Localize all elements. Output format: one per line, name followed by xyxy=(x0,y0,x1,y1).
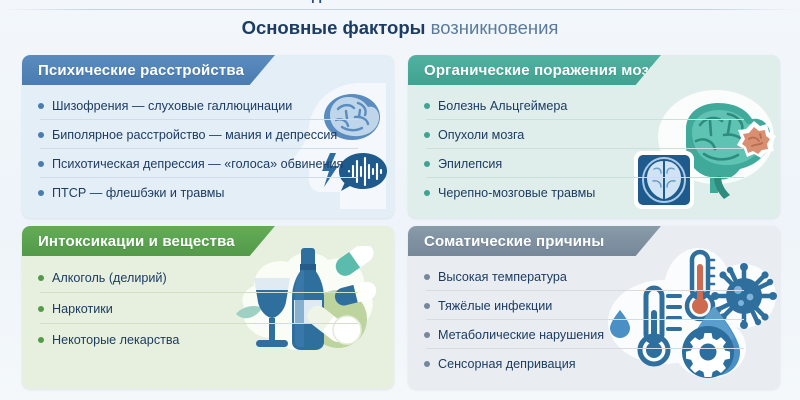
card-intoxication-substances[interactable]: Интоксикации и вещества xyxy=(22,226,394,389)
list-item-label: Опухоли мозга xyxy=(438,128,524,142)
list-item-label: ПТСР — флешбэки и травмы xyxy=(52,186,224,200)
card-title: Органические поражения мозга xyxy=(424,62,664,79)
list-item-label: Высокая температура xyxy=(438,270,567,284)
bullet-icon xyxy=(38,132,44,138)
card-header-psychiatric-disorders: Психические расстройства xyxy=(22,55,275,85)
list-item[interactable]: Наркотики xyxy=(38,293,380,324)
bullet-icon xyxy=(424,190,430,196)
bullet-icon xyxy=(38,275,44,281)
list-item[interactable]: Черепно-мозговые травмы xyxy=(424,178,766,207)
list-item[interactable]: ПТСР — флешбэки и травмы xyxy=(38,178,380,207)
list-item[interactable]: Тяжёлые инфекции xyxy=(424,291,766,320)
bullet-icon xyxy=(424,103,430,109)
list-item-label: Сенсорная депривация xyxy=(438,357,576,371)
list-item[interactable]: Психотическая депрессия — «голоса» обвин… xyxy=(38,149,380,178)
bullet-icon xyxy=(38,161,44,167)
list-item-label: Наркотики xyxy=(52,302,113,316)
bullet-icon xyxy=(424,303,430,309)
bullet-icon xyxy=(38,190,44,196)
cropped-top-text: диагностики и лечения xyxy=(0,0,800,4)
card-header-somatic-causes: Соматические причины xyxy=(408,226,661,256)
card-header-intoxication-substances: Интоксикации и вещества xyxy=(22,226,275,256)
card-list-psychiatric-disorders: Шизофрения — слуховые галлюцинации Бипол… xyxy=(22,85,394,207)
list-item[interactable]: Метаболические нарушения xyxy=(424,320,766,349)
header-divider xyxy=(0,9,800,10)
card-somatic-causes[interactable]: Соматические причины xyxy=(408,226,780,389)
list-item[interactable]: Шизофрения — слуховые галлюцинации xyxy=(38,91,380,120)
list-item-label: Психотическая депрессия — «голоса» обвин… xyxy=(52,157,343,171)
bullet-icon xyxy=(38,103,44,109)
list-item-label: Шизофрения — слуховые галлюцинации xyxy=(52,99,292,113)
card-list-intoxication-substances: Алкоголь (делирий) Наркотики Некоторые л… xyxy=(22,256,394,355)
page-title-light: возникновения xyxy=(431,17,559,38)
list-item[interactable]: Некоторые лекарства xyxy=(38,324,380,355)
list-item[interactable]: Алкоголь (делирий) xyxy=(38,262,380,293)
bullet-icon xyxy=(38,337,44,343)
card-title: Интоксикации и вещества xyxy=(38,233,235,250)
bullet-icon xyxy=(424,361,430,367)
list-item-label: Болезнь Альцгеймера xyxy=(438,99,567,113)
cropped-top-text-strip: диагностики и лечения xyxy=(0,0,800,9)
page-title: Основные факторы возникновения xyxy=(0,16,800,40)
card-list-organic-brain-lesions: Болезнь Альцгеймера Опухоли мозга Эпилеп… xyxy=(408,85,780,207)
list-item[interactable]: Эпилепсия xyxy=(424,149,766,178)
bullet-icon xyxy=(424,274,430,280)
factors-grid: Психические расстройства xyxy=(22,55,782,395)
bullet-icon xyxy=(424,332,430,338)
bullet-icon xyxy=(38,306,44,312)
list-item[interactable]: Биполярное расстройство — мания и депрес… xyxy=(38,120,380,149)
list-item-label: Эпилепсия xyxy=(438,157,502,171)
list-item[interactable]: Сенсорная депривация xyxy=(424,349,766,378)
page-title-strong: Основные факторы xyxy=(242,17,426,38)
card-organic-brain-lesions[interactable]: Органические поражения мозга xyxy=(408,55,780,218)
card-title: Психические расстройства xyxy=(38,62,244,79)
list-item-label: Метаболические нарушения xyxy=(438,328,604,342)
list-item[interactable]: Опухоли мозга xyxy=(424,120,766,149)
bullet-icon xyxy=(424,132,430,138)
list-item-label: Черепно-мозговые травмы xyxy=(438,186,595,200)
list-item[interactable]: Высокая температура xyxy=(424,262,766,291)
list-item-label: Некоторые лекарства xyxy=(52,333,179,347)
card-header-organic-brain-lesions: Органические поражения мозга xyxy=(408,55,661,85)
list-item-label: Биполярное расстройство — мания и депрес… xyxy=(52,128,337,142)
list-item-label: Тяжёлые инфекции xyxy=(438,299,552,313)
card-list-somatic-causes: Высокая температура Тяжёлые инфекции Мет… xyxy=(408,256,780,378)
card-title: Соматические причины xyxy=(424,233,604,250)
list-item-label: Алкоголь (делирий) xyxy=(52,271,167,285)
card-psychiatric-disorders[interactable]: Психические расстройства xyxy=(22,55,394,218)
bullet-icon xyxy=(424,161,430,167)
list-item[interactable]: Болезнь Альцгеймера xyxy=(424,91,766,120)
